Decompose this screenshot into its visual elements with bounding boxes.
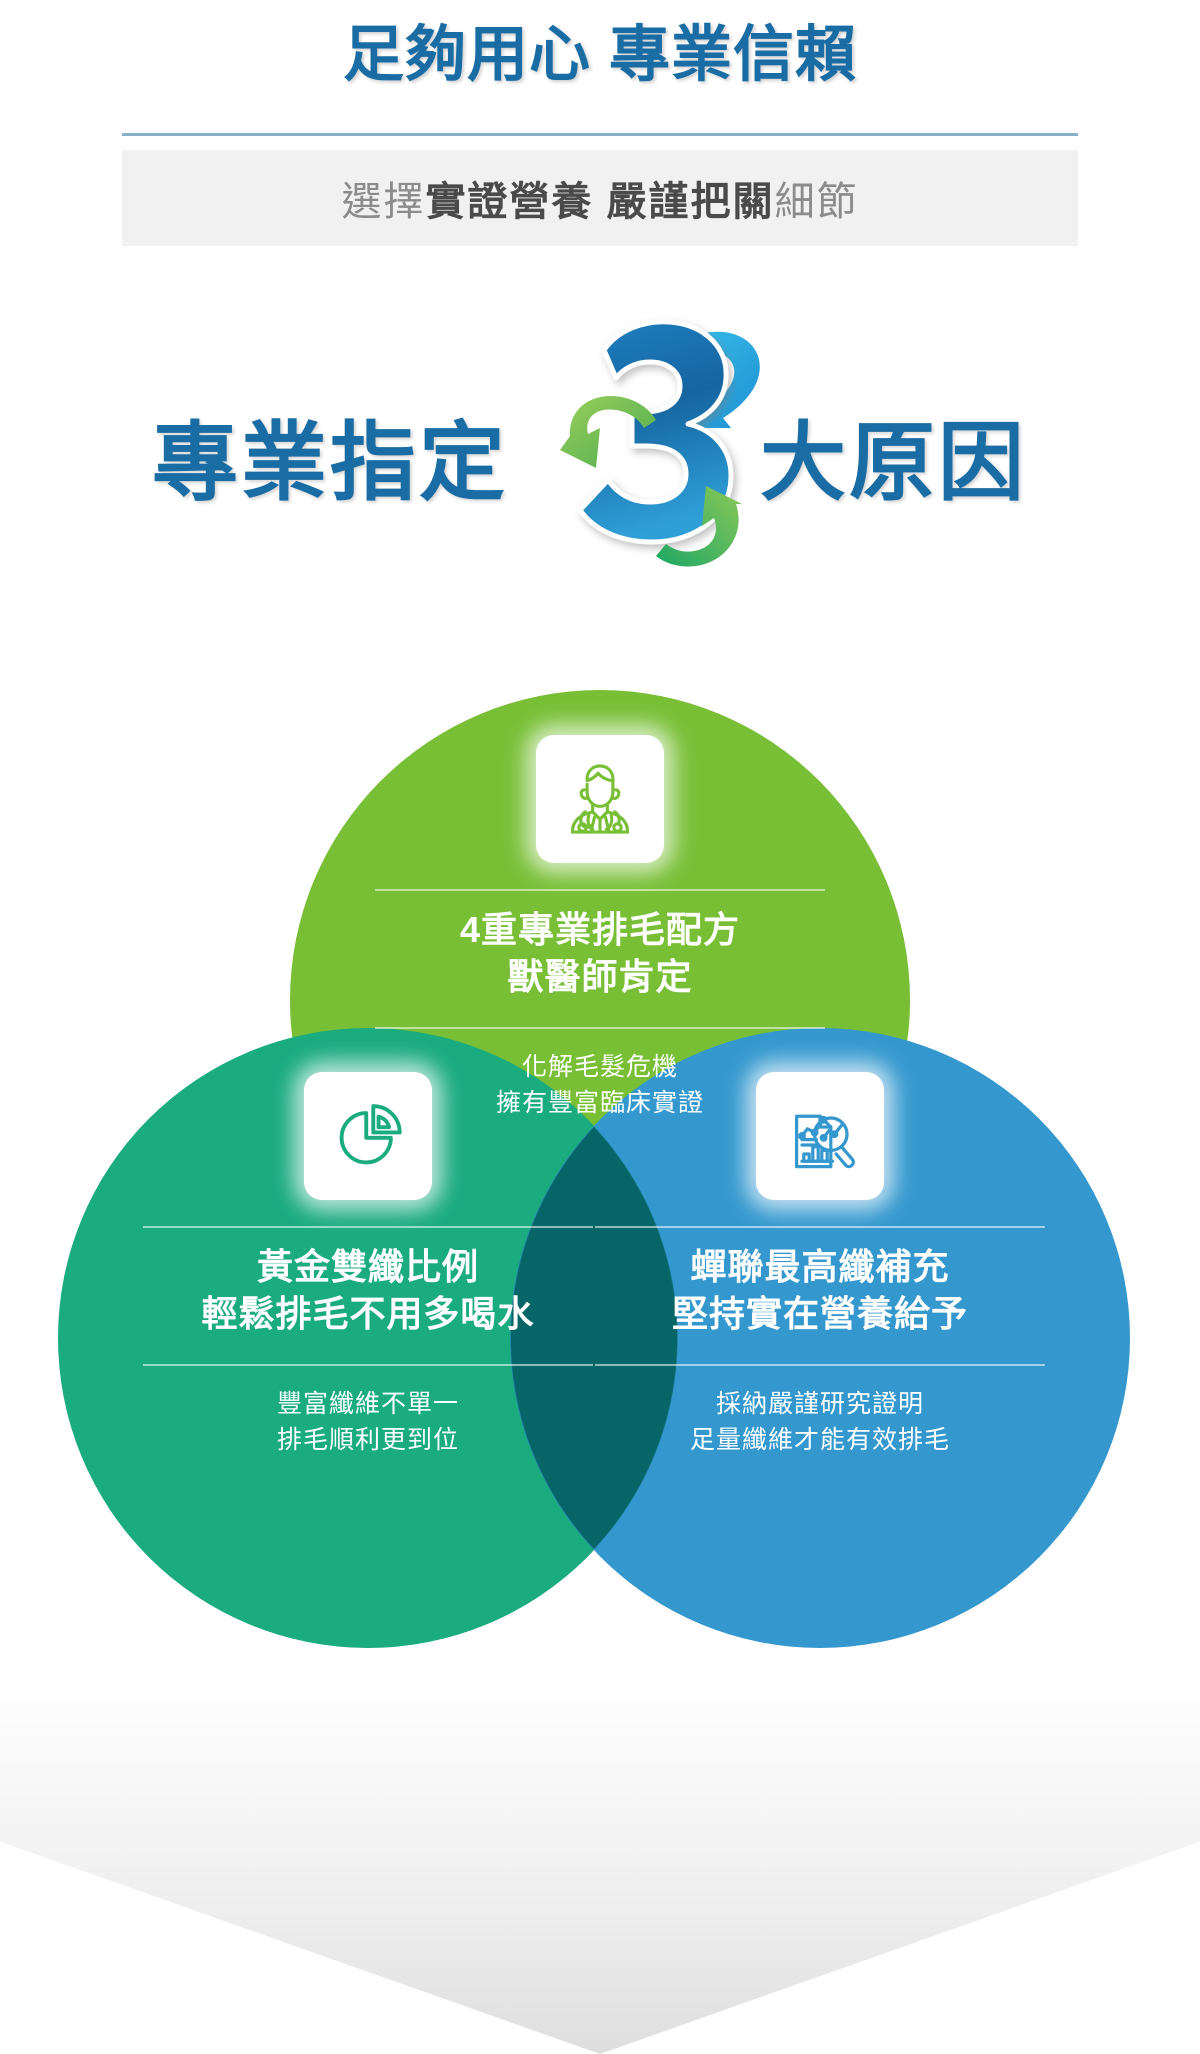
research-document-magnifier-icon bbox=[756, 1072, 884, 1200]
card-divider-right-lower bbox=[595, 1364, 1045, 1366]
card-divider-right-upper bbox=[595, 1226, 1045, 1228]
venn-card-right: 蟬聯最高纖補充 堅持實在營養給予 採納嚴謹研究證明 足量纖維才能有效排毛 bbox=[560, 1072, 1080, 1458]
bottom-chevron-decoration bbox=[0, 1700, 1200, 2054]
venn-card-right-headline: 蟬聯最高纖補充 堅持實在營養給予 bbox=[560, 1244, 1080, 1338]
venn-card-left-headline: 黃金雙纖比例 輕鬆排毛不用多喝水 bbox=[108, 1244, 628, 1338]
sub-line-2: 足量纖維才能有效排毛 bbox=[560, 1422, 1080, 1458]
subtitle-part-2: 實證營養 嚴謹把關 bbox=[425, 169, 774, 227]
card-divider-left-upper bbox=[143, 1226, 593, 1228]
sub-line-2: 排毛順利更到位 bbox=[108, 1422, 628, 1458]
headline-line-2: 輕鬆排毛不用多喝水 bbox=[108, 1291, 628, 1338]
veterinarian-icon bbox=[536, 735, 664, 863]
headline-line-2: 獸醫師肯定 bbox=[340, 954, 860, 1001]
card-divider-top-lower bbox=[375, 1027, 825, 1029]
reason-headline-left: 專業指定 bbox=[152, 392, 508, 517]
card-divider-left-lower bbox=[143, 1364, 593, 1366]
title-divider bbox=[122, 133, 1078, 136]
headline-line-2: 堅持實在營養給予 bbox=[560, 1291, 1080, 1338]
subtitle-part-1: 選擇 bbox=[341, 169, 425, 227]
card-divider-top-upper bbox=[375, 889, 825, 891]
number-three-graphic bbox=[540, 308, 780, 598]
reason-headline-right: 大原因 bbox=[760, 392, 1027, 517]
header: 足夠用心 專業信賴 bbox=[0, 0, 1200, 86]
headline-line-1: 黃金雙纖比例 bbox=[108, 1244, 628, 1291]
page-title: 足夠用心 專業信賴 bbox=[0, 0, 1200, 86]
subtitle: 選擇 實證營養 嚴謹把關 細節 bbox=[0, 150, 1200, 246]
sub-line-1: 豐富纖維不單一 bbox=[108, 1386, 628, 1422]
sub-line-1: 採納嚴謹研究證明 bbox=[560, 1386, 1080, 1422]
venn-card-left-sub: 豐富纖維不單一 排毛順利更到位 bbox=[108, 1386, 628, 1459]
headline-line-1: 4重專業排毛配方 bbox=[340, 907, 860, 954]
subtitle-part-3: 細節 bbox=[775, 169, 859, 227]
venn-card-right-sub: 採納嚴謹研究證明 足量纖維才能有效排毛 bbox=[560, 1386, 1080, 1459]
headline-line-1: 蟬聯最高纖補充 bbox=[560, 1244, 1080, 1291]
reason-headline: 專業指定 bbox=[0, 330, 1200, 580]
venn-card-top: 4重專業排毛配方 獸醫師肯定 化解毛髮危機 擁有豐富臨床實證 bbox=[340, 735, 860, 1121]
venn-card-left: 黃金雙纖比例 輕鬆排毛不用多喝水 豐富纖維不單一 排毛順利更到位 bbox=[108, 1072, 628, 1458]
pie-chart-icon bbox=[304, 1072, 432, 1200]
venn-diagram: 4重專業排毛配方 獸醫師肯定 化解毛髮危機 擁有豐富臨床實證 黃金雙纖比例 輕鬆… bbox=[0, 640, 1200, 1640]
venn-card-top-headline: 4重專業排毛配方 獸醫師肯定 bbox=[340, 907, 860, 1001]
